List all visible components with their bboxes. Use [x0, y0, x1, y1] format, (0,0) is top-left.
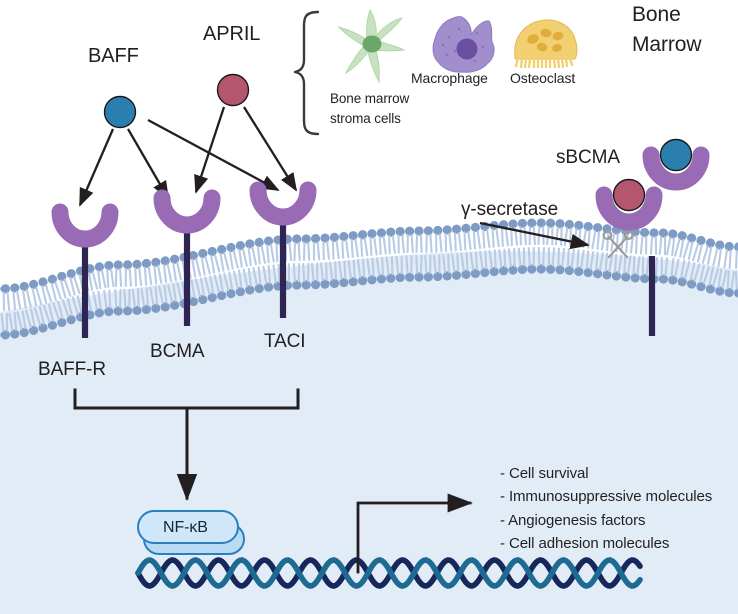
- soluble-bcma-with-april-icon: [604, 180, 654, 223]
- cell-label-stroma-line1: Bone marrow: [330, 90, 409, 108]
- outcome-item: - Angiogenesis factors: [500, 509, 712, 532]
- arrow-baff-to-baffr: [80, 129, 113, 205]
- outcome-item: - Cell survival: [500, 462, 712, 485]
- macrophage-icon: [433, 17, 494, 73]
- gamma-secretase-label: γ-secretase: [461, 198, 558, 221]
- compartment-title-line2: Marrow: [632, 32, 701, 58]
- ligand-label-baff: BAFF: [88, 44, 139, 68]
- outcome-item: - Cell adhesion molecules: [500, 532, 712, 555]
- compartment-title-line1: Bone: [632, 2, 681, 28]
- receptor-label-bcma: BCMA: [150, 340, 205, 363]
- cell-label-stroma-line2: stroma cells: [330, 110, 401, 128]
- cell-label-osteoclast: Osteoclast: [510, 70, 575, 87]
- cell-label-macrophage: Macrophage: [411, 70, 488, 87]
- receptor-label-taci: TACI: [264, 330, 305, 353]
- nfkb-label: NF-κB: [163, 518, 208, 538]
- ligand-baff-icon: [105, 97, 136, 128]
- outcome-item: - Immunosuppressive molecules: [500, 485, 712, 508]
- arrow-baff-to-bcma: [128, 129, 168, 198]
- ligand-april-icon: [218, 75, 249, 106]
- receptor-label-baff-r: BAFF-R: [38, 358, 106, 381]
- soluble-bcma-label: sBCMA: [556, 146, 620, 169]
- ligand-label-april: APRIL: [203, 22, 260, 46]
- soluble-bcma-with-baff-icon: [651, 140, 701, 183]
- osteoclast-icon: [515, 20, 577, 67]
- arrow-april-to-bcma: [196, 107, 224, 192]
- diagram-canvas: BAFF APRIL Bone Marrow Macrophage Osteoc…: [0, 0, 738, 614]
- outcomes-list: - Cell survival- Immunosuppressive molec…: [500, 462, 712, 555]
- cell-types-brace: [295, 12, 318, 134]
- arrow-april-to-taci: [244, 107, 296, 190]
- bone-marrow-stroma-cell-icon: [339, 10, 404, 82]
